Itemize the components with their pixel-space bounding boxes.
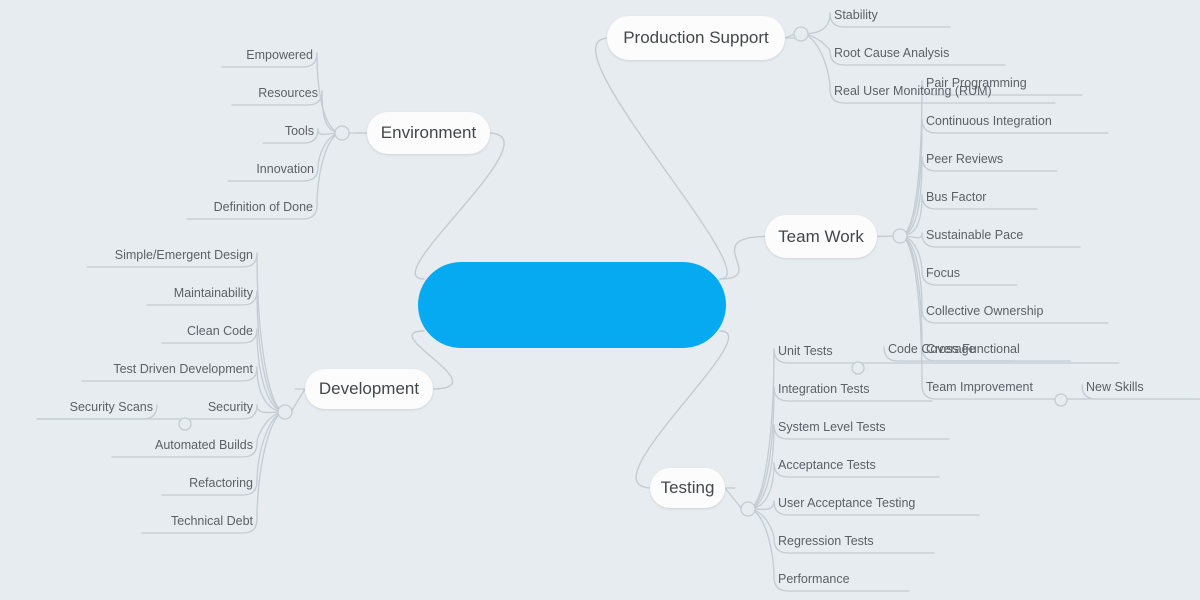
leaf-node[interactable]: User Acceptance Testing	[778, 496, 915, 510]
leaf-node[interactable]: System Level Tests	[778, 420, 885, 434]
leaf-node[interactable]: Refactoring	[0, 476, 253, 490]
leaf-node[interactable]: Resources	[0, 86, 318, 100]
branch-node-production-support[interactable]: Production Support	[607, 16, 785, 60]
leaf-node[interactable]: Acceptance Tests	[778, 458, 876, 472]
leaf-node[interactable]: Unit Tests	[778, 344, 833, 358]
leaf-node[interactable]: New Skills	[1086, 380, 1144, 394]
leaf-node[interactable]: Technical Debt	[0, 514, 253, 528]
leaf-node[interactable]: Clean Code	[0, 324, 253, 338]
branch-node-testing[interactable]: Testing	[650, 468, 725, 508]
leaf-node[interactable]: Focus	[926, 266, 960, 280]
leaf-node[interactable]: Maintainability	[0, 286, 253, 300]
leaf-node[interactable]: Continuous Integration	[926, 114, 1052, 128]
leaf-node[interactable]: Simple/Emergent Design	[0, 248, 253, 262]
leaf-node[interactable]: Sustainable Pace	[926, 228, 1023, 242]
leaf-node[interactable]: Code Coverage	[888, 342, 976, 356]
leaf-node[interactable]: Collective Ownership	[926, 304, 1043, 318]
leaf-node[interactable]: Peer Reviews	[926, 152, 1003, 166]
root-node[interactable]	[418, 262, 726, 348]
leaf-node[interactable]: Security Scans	[0, 400, 153, 414]
leaf-node[interactable]: Integration Tests	[778, 382, 870, 396]
branch-node-environment[interactable]: Environment	[367, 112, 490, 154]
leaf-node[interactable]: Root Cause Analysis	[834, 46, 949, 60]
leaf-node[interactable]: Pair Programming	[926, 76, 1027, 90]
leaf-node[interactable]: Test Driven Development	[0, 362, 253, 376]
leaf-node[interactable]: Performance	[778, 572, 850, 586]
leaf-node[interactable]: Regression Tests	[778, 534, 874, 548]
leaf-node[interactable]: Definition of Done	[0, 200, 313, 214]
branch-node-team-work[interactable]: Team Work	[765, 215, 877, 258]
leaf-node[interactable]: Team Improvement	[926, 380, 1033, 394]
branch-node-development[interactable]: Development	[305, 369, 433, 409]
leaf-node[interactable]: Automated Builds	[0, 438, 253, 452]
leaf-node[interactable]: Bus Factor	[926, 190, 986, 204]
mindmap-canvas: Production SupportStabilityRoot Cause An…	[0, 0, 1200, 600]
leaf-node[interactable]: Stability	[834, 8, 878, 22]
leaf-node[interactable]: Empowered	[0, 48, 313, 62]
leaf-node[interactable]: Innovation	[0, 162, 314, 176]
leaf-node[interactable]: Tools	[0, 124, 314, 138]
